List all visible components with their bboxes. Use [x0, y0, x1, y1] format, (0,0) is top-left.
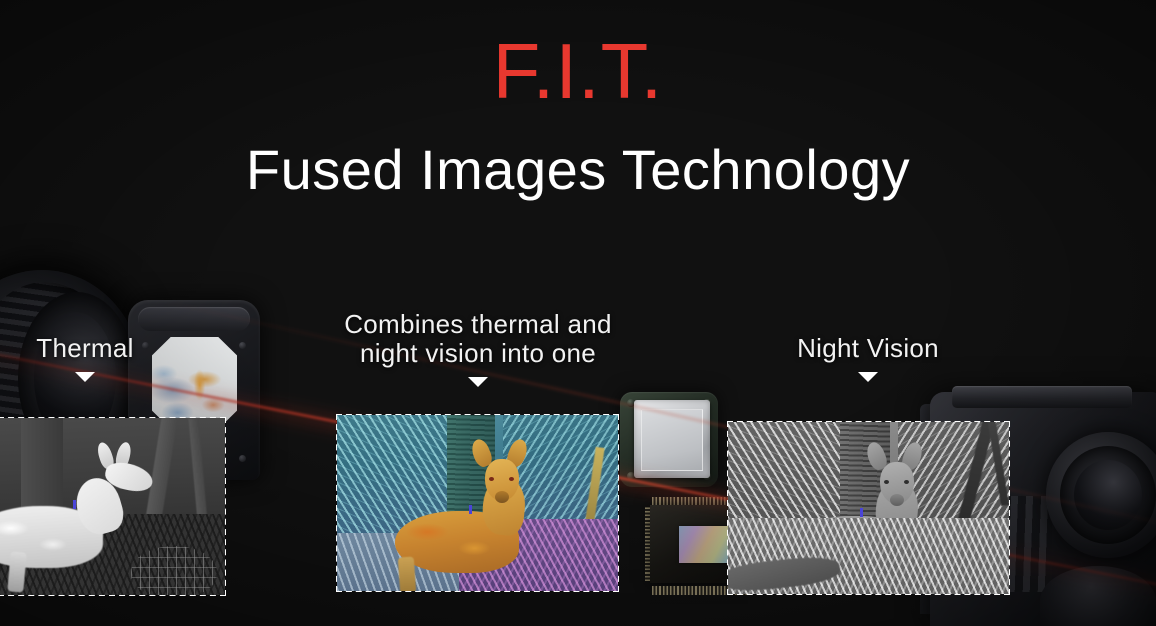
- header-block: F.I.T. Fused Images Technology: [0, 0, 1156, 198]
- thermal-wire-cage: [131, 546, 217, 595]
- scope-mounting-rail: [952, 386, 1132, 408]
- thermal-scene: [0, 418, 225, 595]
- caption-fused-label: Combines thermal and night vision into o…: [340, 310, 616, 368]
- triangle-down-icon: [468, 377, 488, 387]
- module-mount-hole: [627, 472, 635, 480]
- caption-thermal: Thermal: [0, 334, 170, 382]
- fit-promo-screen: F.I.T. Fused Images Technology Thermal C…: [0, 0, 1156, 626]
- device-screw: [239, 455, 246, 462]
- module-mount-hole: [627, 399, 635, 407]
- page-title: F.I.T.: [0, 32, 1156, 110]
- cmos-sensor-die: [679, 526, 735, 563]
- thermal-image-panel: [0, 418, 225, 595]
- night-vision-deer-eye: [904, 480, 909, 484]
- module-mount-hole: [703, 399, 711, 407]
- fused-deer-eye: [509, 477, 514, 481]
- night-vision-image-panel: [728, 422, 1009, 594]
- night-vision-reticle-marker: [860, 508, 863, 517]
- chip-pin-row-left: [645, 507, 654, 581]
- scope-adjustment-knob: [1040, 566, 1156, 626]
- caption-night-vision: Night Vision: [730, 334, 1006, 382]
- module-mount-hole: [703, 472, 711, 480]
- night-vision-deer-snout: [890, 494, 904, 506]
- caption-fused: Combines thermal and night vision into o…: [340, 310, 616, 387]
- fused-image-panel: [337, 415, 618, 591]
- scope-objective-lens: [1046, 432, 1156, 558]
- scope-lens-glass: [1074, 460, 1142, 530]
- device-screw: [239, 342, 246, 349]
- triangle-down-icon: [858, 372, 878, 382]
- fused-scene: [337, 415, 618, 591]
- page-subtitle: Fused Images Technology: [0, 142, 1156, 198]
- night-vision-scene: [728, 422, 1009, 594]
- thermal-reticle-marker: [73, 500, 76, 509]
- sensor-optical-window: [634, 400, 710, 478]
- caption-thermal-label: Thermal: [0, 334, 170, 363]
- fused-deer-eye: [489, 477, 494, 481]
- triangle-down-icon: [75, 372, 95, 382]
- fused-deer-snout: [495, 491, 509, 503]
- night-vision-deer-eye: [884, 480, 889, 484]
- fused-deer-leg: [398, 556, 416, 591]
- caption-night-vision-label: Night Vision: [730, 334, 1006, 363]
- scope-lens-midring: [1060, 446, 1156, 544]
- fused-reticle-marker: [469, 505, 472, 514]
- thermal-sensor-module-icon: [620, 392, 718, 487]
